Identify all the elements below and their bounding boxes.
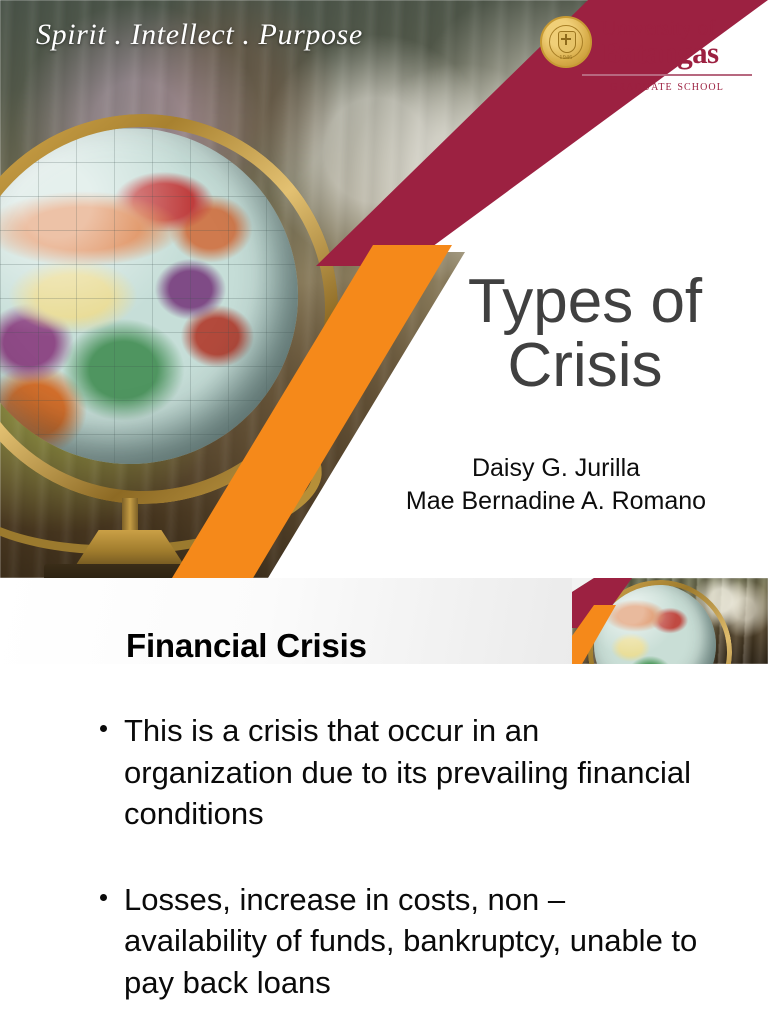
author-list: Daisy G. Jurilla Mae Bernadine A. Romano (356, 452, 756, 518)
page-title: Types of Crisis (418, 270, 752, 399)
bullet-dot-icon (100, 894, 107, 901)
university-seal-icon: 1946 (540, 16, 592, 68)
logo-subtitle-graduate-school: Graduate School (610, 79, 724, 95)
slide-body: This is a crisis that occur in an organi… (0, 664, 768, 1024)
globe-photo (0, 106, 358, 576)
logo-primary-row: 1946 University of Batangas (540, 16, 756, 68)
list-item: Losses, increase in costs, non – availab… (96, 879, 698, 1004)
author-name: Daisy G. Jurilla (356, 452, 756, 485)
slide-heading: Financial Crisis (126, 627, 367, 665)
university-logo: 1946 University of Batangas Graduate Sch… (540, 16, 756, 95)
list-item-text: This is a crisis that occur in an organi… (124, 713, 691, 831)
logo-line-batangas: Batangas (601, 37, 719, 68)
bullet-list: This is a crisis that occur in an organi… (0, 710, 768, 1003)
header-thumbnail-image (572, 578, 768, 664)
logo-divider (582, 74, 752, 76)
slide-financial-crisis: Financial Crisis This is a crisis that o… (0, 578, 768, 1024)
bullet-dot-icon (100, 725, 107, 732)
university-tagline: Spirit . Intellect . Purpose (36, 18, 363, 52)
logo-wordmark: University of Batangas (601, 17, 719, 68)
slide-title: Spirit . Intellect . Purpose 1946 Univer… (0, 0, 768, 578)
author-name: Mae Bernadine A. Romano (356, 485, 756, 518)
list-item-text: Losses, increase in costs, non – availab… (124, 882, 697, 1000)
presentation-page: Spirit . Intellect . Purpose 1946 Univer… (0, 0, 768, 1024)
seal-year: 1946 (542, 55, 590, 61)
seal-cross-horizontal-icon (561, 38, 571, 40)
list-item: This is a crisis that occur in an organi… (96, 710, 698, 835)
seal-shield-icon (558, 31, 576, 53)
slide-header-band: Financial Crisis (0, 578, 768, 664)
